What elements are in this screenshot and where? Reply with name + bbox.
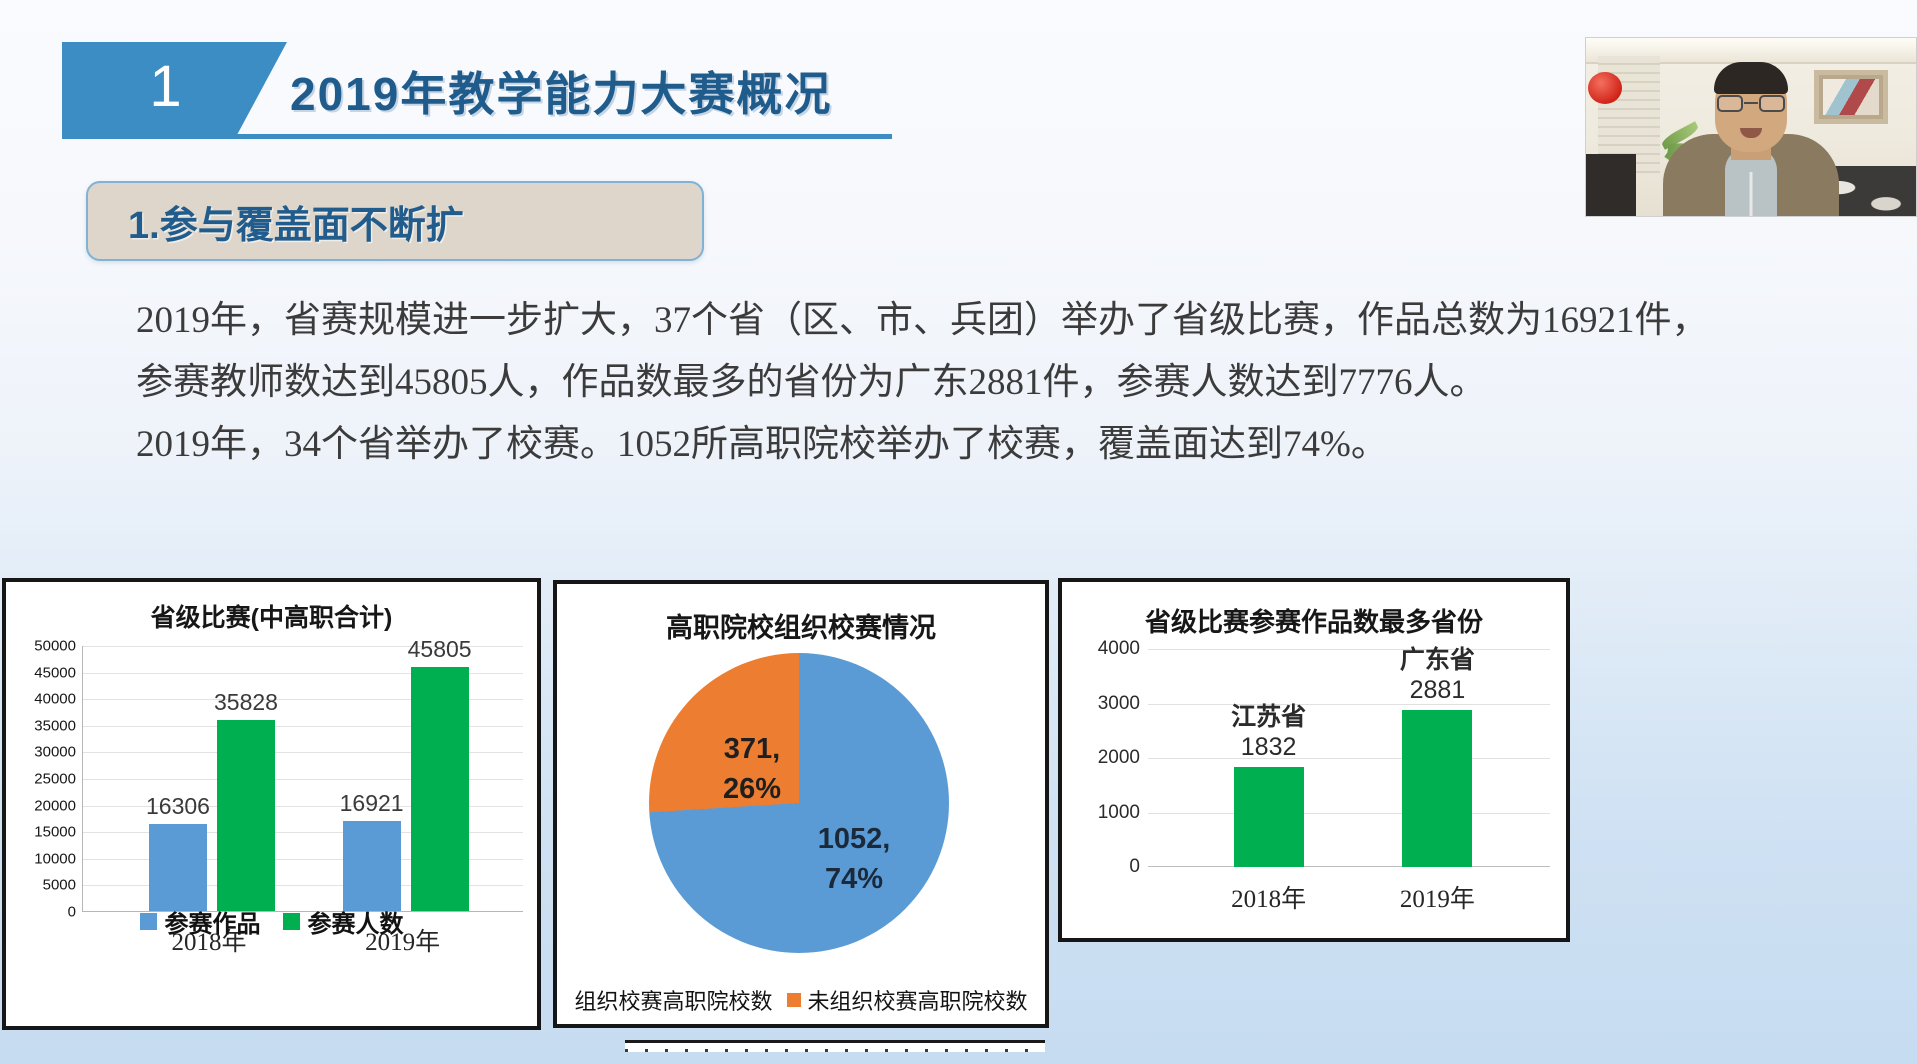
glasses-icon [1717,95,1785,112]
chart-1-plot-area: 16306358281692145805 [82,646,523,912]
chart-2-plot: 371, 26% 1052, 74% [557,651,1045,969]
chart-1-bar-value: 35828 [186,689,306,716]
header-underline [62,134,892,139]
chart-3-bar-value: 1832 [1199,733,1339,762]
chart-2-legend: 组织校赛高职院校数未组织校赛高职院校数 [557,984,1045,1016]
slide-header: 1 2019年教学能力大赛概况 [62,42,892,142]
body-paragraph-2: 参赛教师数达到45805人，作品数最多的省份为广东2881件，参赛人数达到777… [62,352,1862,414]
chart-1-bar [411,667,469,911]
chart-3-x-tick: 2019年 [1362,879,1512,915]
chart-3-bar-value: 2881 [1367,676,1507,705]
chart-3-y-tick: 0 [1129,856,1140,878]
chart-2-title: 高职院校组织校赛情况 [557,606,1045,645]
chart-card-school-contest-pie: 高职院校组织校赛情况 371, 26% 1052, 74% 组织校赛高职院校数未… [553,580,1049,1028]
chart-3-x-axis: 2018年2019年 [1148,879,1550,913]
chart-1-bar-value: 45805 [380,636,500,663]
legend-swatch-icon [283,913,300,930]
chart-3-gridline [1148,866,1550,868]
pie-slice-label-minor: 371, 26% [697,729,807,809]
section-number: 1 [149,53,181,120]
chart-1-plot: 0500010000150002000025000300003500040000… [6,646,537,946]
chart-1-y-axis: 0500010000150002000025000300003500040000… [10,646,76,912]
chart-1-y-tick: 40000 [34,691,76,708]
decorative-dotted-strip [625,1040,1045,1052]
chart-1-y-tick: 5000 [43,877,76,894]
chart-3-gridline [1148,813,1550,814]
chart-2-legend-label: 未组织校赛高职院校数 [808,984,1028,1016]
chart-1-y-tick: 30000 [34,744,76,761]
legend-swatch-icon [140,913,157,930]
chart-2-legend-label: 组织校赛高职院校数 [574,984,772,1016]
chart-3-y-axis: 01000200030004000 [1072,649,1140,867]
chart-1-y-tick: 45000 [34,664,76,681]
chart-1-y-tick: 20000 [34,797,76,814]
chart-3-y-tick: 2000 [1098,747,1140,769]
chart-1-bar [343,821,401,911]
chart-3-x-tick: 2018年 [1194,879,1344,915]
chart-1-legend-label: 参赛人数 [308,904,404,939]
chart-3-plot: 01000200030004000 1832江苏省2881广东省 2018年20… [1062,649,1566,929]
chart-3-y-tick: 4000 [1098,638,1140,660]
presenter-video-feed[interactable] [1585,37,1917,217]
chart-1-y-tick: 50000 [34,638,76,655]
microphone-cable-icon [1750,172,1753,216]
subheading-label: 1.参与覆盖面不断扩 [128,194,464,249]
chart-1-legend: 参赛作品参赛人数 [6,904,537,939]
chart-3-point-label: 广东省 [1367,640,1507,676]
presentation-slide: 1 2019年教学能力大赛概况 1.参与覆盖面不断扩 2019年，省赛规模进一步… [0,0,1917,1064]
chart-1-bar [217,720,275,911]
body-paragraph-3: 2019年，34个省举办了校赛。1052所高职院校举办了校赛，覆盖面达到74%。 [62,414,1862,476]
chart-2-legend-item: 未组织校赛高职院校数 [787,984,1028,1016]
chart-2-legend-item: 组织校赛高职院校数 [574,984,772,1016]
chart-1-y-tick: 10000 [34,850,76,867]
chart-card-top-provinces: 省级比赛参赛作品数最多省份 01000200030004000 1832江苏省2… [1058,578,1570,942]
chart-3-title: 省级比赛参赛作品数最多省份 [1062,602,1566,639]
presenter-hair [1714,62,1788,94]
section-number-badge: 1 [62,42,287,134]
chart-3-plot-area: 1832江苏省2881广东省 [1148,649,1550,867]
chart-1-legend-label: 参赛作品 [165,904,261,939]
chart-1-y-tick: 15000 [34,824,76,841]
chart-3-point-label: 江苏省 [1199,697,1339,733]
body-copy: 2019年，省赛规模进一步扩大，37个省（区、市、兵团）举办了省级比赛，作品总数… [62,290,1862,476]
wall-picture-frame-icon [1814,70,1888,124]
chair-icon [1585,154,1636,216]
chart-3-bar [1402,710,1472,867]
chart-1-legend-item: 参赛人数 [283,904,404,939]
pie-slice-label-major: 1052, 74% [789,819,919,899]
chart-3-y-tick: 1000 [1098,802,1140,824]
charts-row: 省级比赛(中高职合计) 0500010000150002000025000300… [0,578,1917,1028]
chart-1-y-tick: 35000 [34,717,76,734]
page-title: 2019年教学能力大赛概况 [290,58,832,124]
body-paragraph-1: 2019年，省赛规模进一步扩大，37个省（区、市、兵团）举办了省级比赛，作品总数… [62,290,1862,352]
legend-swatch-icon [787,993,801,1007]
chart-1-title: 省级比赛(中高职合计) [6,598,537,634]
chart-1-bar [149,824,207,911]
subheading-pill: 1.参与覆盖面不断扩 [86,181,704,261]
chart-card-provincial-contest: 省级比赛(中高职合计) 0500010000150002000025000300… [2,578,541,1030]
chart-1-y-tick: 25000 [34,771,76,788]
chart-3-bar [1234,767,1304,867]
red-lantern-icon [1588,72,1622,104]
chart-1-legend-item: 参赛作品 [140,904,261,939]
chart-3-y-tick: 3000 [1098,693,1140,715]
